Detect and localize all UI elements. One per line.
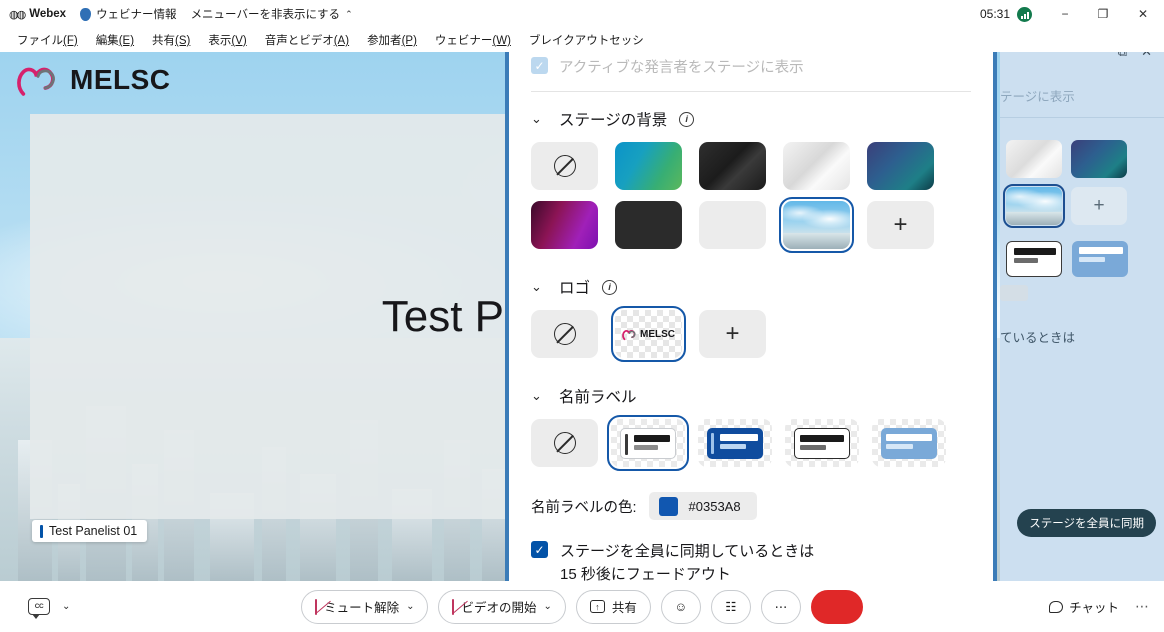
color-swatch[interactable] [659,497,678,516]
menu-webinar-label: ウェビナー [435,35,493,47]
webex-brand: ◍◍ Webex [9,8,66,21]
side-panel-thumb-city[interactable] [1006,187,1062,225]
melsc-heart-mini-icon [622,328,637,341]
maximize-button[interactable]: ❐ [1084,0,1122,28]
fade-out-label: ステージを全員に同期しているときは 15 秒後にフェードアウト [560,540,814,587]
menu-file-accel: (F) [63,35,78,47]
logo-chevron-down-icon[interactable]: ⌄ [531,279,547,295]
background-thumb-charcoal-solid[interactable] [615,201,682,249]
namelabel-style-row [531,419,971,467]
menu-view-label: 表示 [208,35,231,47]
logo-thumb-melsc[interactable]: MELSC [615,310,682,358]
chat-bubble-icon [1049,601,1063,613]
control-bar-right: チャット ⋯ [1049,597,1150,616]
system-clock: 05:31 [980,7,1010,21]
menu-participants-accel: (P) [402,35,417,47]
background-thumb-white-blank[interactable] [699,201,766,249]
logo-thumb-row: MELSC + [531,310,971,358]
fade-out-checkbox[interactable]: ✓ [531,541,548,558]
color-hex-value: #0353A8 [689,499,741,514]
control-bar-center: ミュート解除 ⌄ ビデオの開始 ⌄ ↑ 共有 ☺ ☷ ⋯ [0,590,1164,624]
background-thumb-blue-green-gradient[interactable] [615,142,682,190]
background-thumb-teal-navy-gradient[interactable] [867,142,934,190]
fade-out-label-line1: ステージを全員に同期しているときは [560,543,814,560]
start-video-button[interactable]: ビデオの開始 ⌄ [438,590,565,624]
active-speaker-checkbox[interactable]: ✓ [531,57,548,74]
meeting-control-bar: CC ⌄ ミュート解除 ⌄ ビデオの開始 ⌄ ↑ 共有 ☺ ☷ ⋯ [0,581,1164,632]
more-options-button[interactable]: ⋯ [761,590,801,624]
stage-name-label-chip: Test Panelist 01 [32,520,147,542]
menu-audio-video-accel: (A) [334,35,349,47]
side-panel-faded-text-2: ているときは [1000,301,1164,346]
menu-share-label: 共有 [152,35,175,47]
stage-manager-side-panel: ⧉ ✕ テージに表示 + ているときは ステージを全員に同期 [1000,36,1164,581]
menu-breakout[interactable]: ブレイクアウトセッシ [520,30,653,50]
participants-icon: ☷ [725,599,736,614]
chat-label: チャット [1069,597,1119,616]
side-panel-namelabel-blue[interactable] [1072,241,1128,277]
stage-name-label-text: Test Panelist 01 [49,524,137,538]
namelabel-section-title: 名前ラベル [559,385,637,407]
mute-chevron-down-icon[interactable]: ⌄ [406,601,414,612]
background-section-title: ステージの背景 [559,108,667,130]
mute-button[interactable]: ミュート解除 ⌄ [301,590,428,624]
background-thumb-light-swirl[interactable] [783,142,850,190]
stage-brand-text: MELSC [70,64,171,96]
namelabel-section-header[interactable]: ⌄ 名前ラベル [531,369,971,419]
add-background-button[interactable]: + [867,201,934,249]
logo-thumb-none[interactable] [531,310,598,358]
logo-section-title: ロゴ [559,276,590,298]
background-section-header[interactable]: ⌄ ステージの背景 i [531,92,971,142]
background-thumb-row-1 [531,142,971,190]
webex-logo-icon: ◍◍ [9,8,24,21]
background-thumb-dark-swirl[interactable] [699,142,766,190]
share-screen-icon: ↑ [590,600,605,613]
namelabel-style-light-blue[interactable] [872,419,946,467]
name-label-accent-bar-icon [40,525,43,538]
background-info-icon[interactable]: i [679,112,694,127]
menu-file-label: ファイル [17,35,63,47]
menu-view-accel: (V) [231,35,246,47]
background-thumb-row-2: + [531,201,971,249]
menu-breakout-label: ブレイクアウトセッシ [529,35,644,47]
control-bar-overflow-icon[interactable]: ⋯ [1135,598,1150,615]
menu-webinar[interactable]: ウェビナー(W) [426,30,520,50]
mute-button-label: ミュート解除 [324,597,399,616]
reactions-button[interactable]: ☺ [661,590,701,624]
background-thumb-magenta-purple-gradient[interactable] [531,201,598,249]
app-root: ◍◍ Webex ウェビナー情報 メニューバーを非表示にする ⌃ 05:31 −… [0,0,1164,632]
add-logo-button[interactable]: + [699,310,766,358]
window-titlebar: ◍◍ Webex ウェビナー情報 メニューバーを非表示にする ⌃ 05:31 −… [0,0,1164,28]
menu-webinar-accel: (W) [492,35,511,47]
close-window-button[interactable]: ✕ [1122,0,1164,28]
side-panel-faded-text: テージに表示 [1000,60,1164,105]
melsc-heart-logo-icon [16,63,60,97]
active-speaker-label: アクティブな発言者をステージに表示 [559,56,804,77]
participants-button[interactable]: ☷ [711,590,751,624]
video-chevron-down-icon[interactable]: ⌄ [544,601,552,612]
titlebar-right-group: 05:31 − ❐ ✕ [980,0,1164,28]
reactions-icon: ☺ [675,600,688,614]
namelabel-color-label: 名前ラベルの色: [531,496,637,517]
network-status-icon [1017,7,1032,22]
minimize-button[interactable]: − [1046,0,1084,28]
menu-share[interactable]: 共有(S) [143,30,199,50]
logo-info-icon[interactable]: i [602,280,617,295]
menu-audio-video[interactable]: 音声とビデオ(A) [256,30,358,50]
namelabel-style-white-accent-bar[interactable] [611,419,685,467]
side-panel-thumb-light[interactable] [1006,140,1062,178]
stage-manager-dialog: ⌄ ステージ マネージャ ⧉ ✕ ✓ アクティブな発言者をステージに表示 ⌄ ス… [505,2,997,607]
webex-app-name: Webex [29,8,66,20]
active-speaker-option[interactable]: ✓ アクティブな発言者をステージに表示 [531,52,971,91]
menu-view[interactable]: 表示(V) [199,30,255,50]
microphone-muted-icon [315,600,317,614]
menu-edit[interactable]: 編集(E) [87,30,143,50]
side-panel-thumbs: + [1000,118,1164,225]
webinar-info-label: ウェビナー情報 [96,6,177,22]
side-panel-namelabel-white[interactable] [1006,241,1062,277]
hide-menubar-button[interactable]: メニューバーを非表示にする ⌃ [191,6,353,22]
namelabel-color-picker[interactable]: #0353A8 [649,492,757,520]
side-panel-thumb-teal[interactable] [1071,140,1127,178]
menu-participants-label: 参加者 [367,35,402,47]
no-background-icon [554,155,576,177]
more-dots-icon: ⋯ [775,599,788,614]
no-namelabel-icon [554,432,576,454]
side-panel-namelabel-thumbs [1000,225,1164,277]
no-logo-icon [554,323,576,345]
menu-participants[interactable]: 参加者(P) [358,30,426,50]
namelabel-style-none[interactable] [531,419,598,467]
leave-meeting-button[interactable] [811,590,863,624]
background-thumb-city-photo[interactable] [783,201,850,249]
dialog-body: ✓ アクティブな発言者をステージに表示 ⌄ ステージの背景 i [509,52,993,587]
fade-out-option[interactable]: ✓ ステージを全員に同期しているときは 15 秒後にフェードアウト [531,526,971,587]
background-thumb-none[interactable] [531,142,598,190]
menu-audio-video-label: 音声とビデオ [265,35,334,47]
titlebar-left-group: ◍◍ Webex ウェビナー情報 メニューバーを非表示にする ⌃ [0,6,353,22]
menubar: ファイル(F) 編集(E) 共有(S) 表示(V) 音声とビデオ(A) 参加者(… [0,28,1164,52]
webinar-info-button[interactable]: ウェビナー情報 [80,6,177,22]
camera-off-icon [452,600,454,614]
namelabel-color-row: 名前ラベルの色: #0353A8 [531,478,971,526]
menu-file[interactable]: ファイル(F) [8,30,87,50]
side-panel-add-background-button[interactable]: + [1071,187,1127,225]
city-thumb-skyline [783,233,850,249]
namelabel-style-solid-blue[interactable] [698,419,772,467]
side-panel-color-chip [1000,285,1028,301]
share-button[interactable]: ↑ 共有 [576,590,651,624]
menu-edit-accel: (E) [119,35,134,47]
share-button-label: 共有 [612,597,637,616]
background-chevron-down-icon[interactable]: ⌄ [531,111,547,127]
menu-share-accel: (S) [175,35,190,47]
menu-edit-label: 編集 [96,35,119,47]
hide-menubar-label: メニューバーを非表示にする [191,6,341,22]
namelabel-style-white-no-accent[interactable] [785,419,859,467]
info-shield-icon [80,8,91,21]
sync-stage-for-everyone-button[interactable]: ステージを全員に同期 [1017,509,1156,537]
chat-button[interactable]: チャット [1049,597,1119,616]
logo-section-header[interactable]: ⌄ ロゴ i [531,260,971,310]
namelabel-chevron-down-icon[interactable]: ⌄ [531,388,547,404]
logo-thumb-text: MELSC [640,329,675,340]
start-video-label: ビデオの開始 [461,597,536,616]
city-thumb-sky [783,201,850,231]
chevron-up-icon: ⌃ [345,9,353,20]
